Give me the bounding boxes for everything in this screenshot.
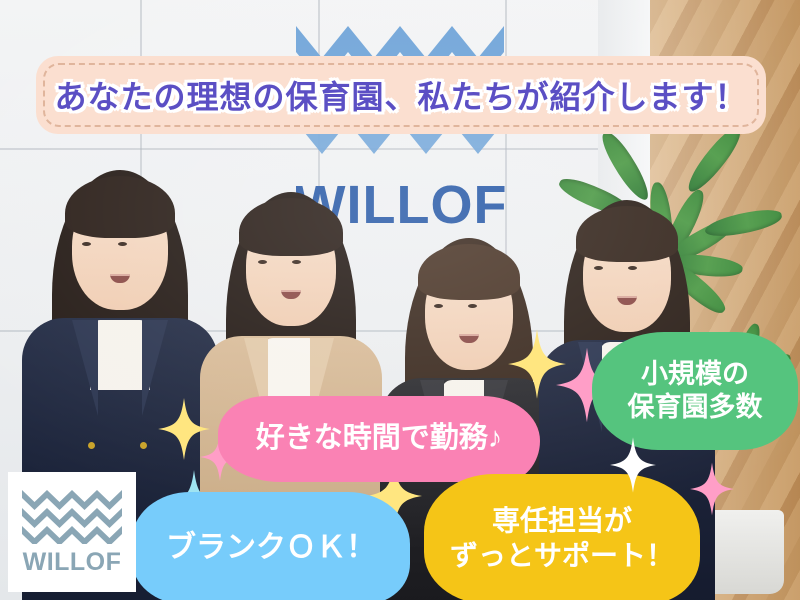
willof-logo-card[interactable]: WILLOF	[8, 472, 136, 592]
bubble-line: ブランクＯＫ！	[166, 529, 376, 566]
bubble-flexible-hours[interactable]: 好きな時間で勤務♪	[218, 396, 540, 482]
bubble-blank-ok[interactable]: ブランクＯＫ！	[132, 492, 410, 600]
hair-bangs	[576, 206, 678, 262]
bubble-line: 小規模の	[641, 358, 749, 391]
bubble-small-nurseries[interactable]: 小規模の 保育園多数	[592, 332, 798, 450]
lapel	[72, 320, 98, 416]
blouse	[90, 320, 150, 390]
sparkle-pink-right	[690, 462, 734, 516]
willof-wordmark: WILLOF	[23, 548, 122, 577]
bubble-line: 保育園多数	[628, 391, 763, 424]
bubble-line: 好きな時間で勤務♪	[256, 421, 503, 457]
bubble-line: ずっとサポート！	[450, 539, 674, 574]
hair-bangs	[65, 176, 175, 238]
headline-banner: あなたの理想の保育園、私たちが紹介します！	[36, 56, 766, 134]
sparkle-white-yellow-bubble	[610, 436, 656, 494]
zigzag-wave-icon	[22, 488, 122, 544]
headline-text: あなたの理想の保育園、私たちが紹介します！	[36, 56, 766, 134]
promo-banner-image: WILLOF	[0, 0, 800, 600]
bubble-dedicated-support[interactable]: 専任担当が ずっとサポート！	[424, 474, 700, 600]
hair-bangs	[239, 198, 343, 256]
hair-bangs	[418, 244, 520, 300]
bubble-line: 専任担当が	[492, 504, 632, 539]
